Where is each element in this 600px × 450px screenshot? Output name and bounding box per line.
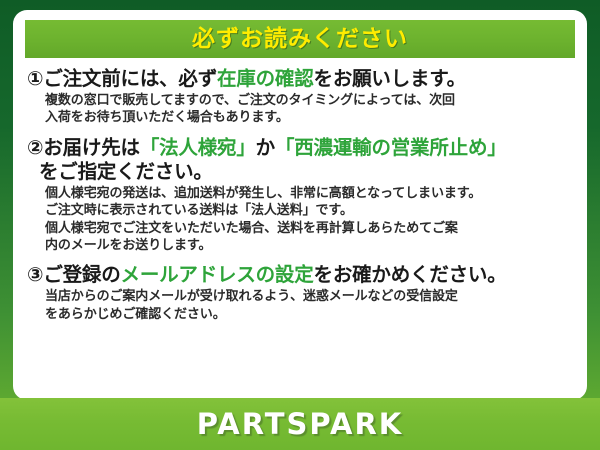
notice-item-1-marker: ① <box>27 67 43 90</box>
notice-item-1: ①ご注文前には、必ず在庫の確認をお願いします。 複数の窓口で販売してますので、ご… <box>27 67 573 127</box>
notice-item-2-heading-line2: をご指定ください。 <box>27 160 573 183</box>
notice-item-1-heading-part-3: をお願いします。 <box>314 67 466 90</box>
header-banner: 必ずお読みください <box>25 20 575 58</box>
notice-item-3-heading-part-3: をお確かめください。 <box>314 263 507 286</box>
notice-item-3-body: 当店からのご案内メールが受け取れるよう、迷惑メールなどの受信設定 をあらかじめご… <box>45 288 573 323</box>
notice-item-3-heading: ③ご登録のメールアドレスの設定をお確かめください。 <box>27 263 573 286</box>
brand-logo-text: PARTSPARK <box>197 410 404 439</box>
notice-panel: 必ずお読みください ①ご注文前には、必ず在庫の確認をお願いします。 複数の窓口で… <box>13 10 587 400</box>
notice-item-1-heading-part-1: ご注文前には、必ず <box>43 67 217 90</box>
notice-item-2-body-line-2: ご注文時に表示されている送料は「法人送料」です。 <box>45 202 573 219</box>
notice-item-1-body-line-2: 入荷をお待ち頂いただく場合もあります。 <box>45 109 573 126</box>
notice-item-2-body-line-4: 内のメールをお送りします。 <box>45 237 573 254</box>
notice-item-2: ②お届け先は「法人様宛」か「西濃運輸の営業所止め」 をご指定ください。 個人様宅… <box>27 136 573 255</box>
notice-item-2-body: 個人様宅宛の発送は、追加送料が発生し、非常に高額となってしまいます。 ご注文時に… <box>45 185 573 255</box>
page-title: 必ずお読みください <box>192 28 408 51</box>
notice-item-2-heading-part-3: か <box>256 136 275 159</box>
notice-item-2-marker: ② <box>27 136 43 159</box>
notice-item-3: ③ご登録のメールアドレスの設定をお確かめください。 当店からのご案内メールが受け… <box>27 263 573 323</box>
notice-item-3-body-line-1: 当店からのご案内メールが受け取れるよう、迷惑メールなどの受信設定 <box>45 288 573 305</box>
notice-item-3-heading-highlight: メールアドレスの設定 <box>121 263 314 286</box>
footer-brand-bar: PARTSPARK <box>0 398 600 450</box>
notice-frame: 必ずお読みください ①ご注文前には、必ず在庫の確認をお願いします。 複数の窓口で… <box>0 0 600 450</box>
notice-item-1-heading-highlight: 在庫の確認 <box>217 67 314 90</box>
notice-item-3-heading-part-1: ご登録の <box>43 263 120 286</box>
notice-item-2-heading-highlight-1: 「法人様宛」 <box>140 136 256 159</box>
notice-item-1-heading: ①ご注文前には、必ず在庫の確認をお願いします。 <box>27 67 573 90</box>
notice-items-list: ①ご注文前には、必ず在庫の確認をお願いします。 複数の窓口で販売してますので、ご… <box>25 67 575 323</box>
notice-item-3-marker: ③ <box>27 263 43 286</box>
notice-item-2-heading-line2-text: をご指定ください。 <box>39 160 213 183</box>
notice-item-3-body-line-2: をあらかじめご確認ください。 <box>45 306 573 323</box>
notice-item-1-body-line-1: 複数の窓口で販売してますので、ご注文のタイミングによっては、次回 <box>45 92 573 109</box>
notice-item-2-heading: ②お届け先は「法人様宛」か「西濃運輸の営業所止め」 <box>27 136 573 159</box>
notice-item-2-body-line-1: 個人様宅宛の発送は、追加送料が発生し、非常に高額となってしまいます。 <box>45 185 573 202</box>
notice-item-2-body-line-3: 個人様宅宛でご注文をいただいた場合、送料を再計算しあらためてご案 <box>45 220 573 237</box>
notice-item-1-body: 複数の窓口で販売してますので、ご注文のタイミングによっては、次回 入荷をお待ち頂… <box>45 92 573 127</box>
notice-item-2-heading-highlight-2: 「西濃運輸の営業所止め」 <box>275 136 507 159</box>
notice-item-2-heading-part-1: お届け先は <box>43 136 140 159</box>
